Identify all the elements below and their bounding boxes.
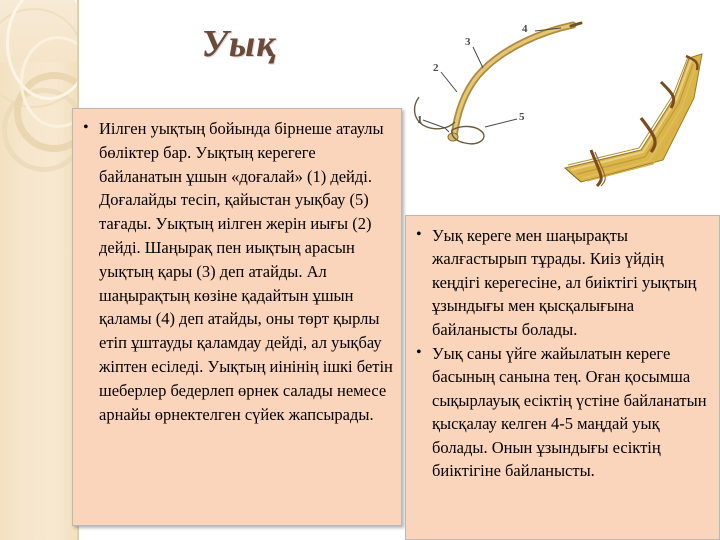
page-title: Уық (79, 22, 399, 66)
yurt-pole-illustration: 1 2 3 4 5 (405, 0, 720, 196)
decorative-sidebar (0, 0, 79, 540)
right-bullet-list: Уық кереге мен шаңырақты жалғастырып тұр… (414, 224, 713, 482)
callout-label-5: 5 (519, 111, 525, 123)
callout-label-1: 1 (417, 114, 423, 126)
slide: Уық (0, 0, 720, 540)
left-text-panel: Иілген уықтың бойында бірнеше атаулы бөл… (72, 108, 402, 526)
left-bullet-list: Иілген уықтың бойында бірнеше атаулы бөл… (81, 117, 395, 426)
list-item: Уық саны үйге жайылатын кереге басының с… (414, 342, 713, 482)
callout-label-2: 2 (433, 62, 439, 74)
callout-label-4: 4 (522, 23, 528, 35)
list-item: Уық кереге мен шаңырақты жалғастырып тұр… (414, 224, 713, 341)
callout-label-3: 3 (465, 36, 471, 48)
right-text-panel: Уық кереге мен шаңырақты жалғастырып тұр… (405, 215, 720, 540)
illustration-svg (405, 0, 720, 196)
list-item: Иілген уықтың бойында бірнеше атаулы бөл… (81, 117, 395, 426)
